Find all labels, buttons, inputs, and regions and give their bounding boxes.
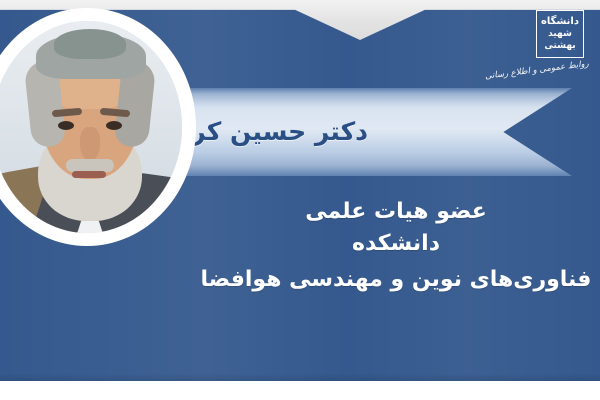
- photo-nose: [80, 127, 100, 161]
- faculty-member-card: دکتر حسین کرمانیان: [0, 0, 600, 400]
- detail-line-position: عضو هیات علمی: [200, 196, 592, 228]
- photo-eye-left: [58, 121, 74, 130]
- photo-eye-right: [106, 121, 122, 130]
- photo-hair-crown: [54, 29, 126, 59]
- logo-frame-icon: دانشگاه شهید بهشتی: [536, 10, 584, 58]
- detail-line-faculty: فناوری‌های نوین و مهندسی هوافضا: [200, 264, 592, 296]
- logo-line-3: بهشتی: [544, 40, 575, 52]
- university-logo: دانشگاه شهید بهشتی روابط عمومی و اطلاع ر…: [502, 6, 590, 90]
- logo-line-2: شهید: [548, 28, 572, 40]
- photo-mouth: [72, 171, 106, 178]
- avatar: [0, 8, 196, 246]
- logo-line-1: دانشگاه: [541, 16, 579, 28]
- bottom-white-strip: [0, 381, 600, 400]
- faculty-details: عضو هیات علمی دانشکده فناوری‌های نوین و …: [200, 196, 592, 296]
- avatar-frame: [0, 21, 182, 233]
- detail-line-unit: دانشکده: [200, 228, 592, 260]
- portrait-photo: [0, 21, 182, 233]
